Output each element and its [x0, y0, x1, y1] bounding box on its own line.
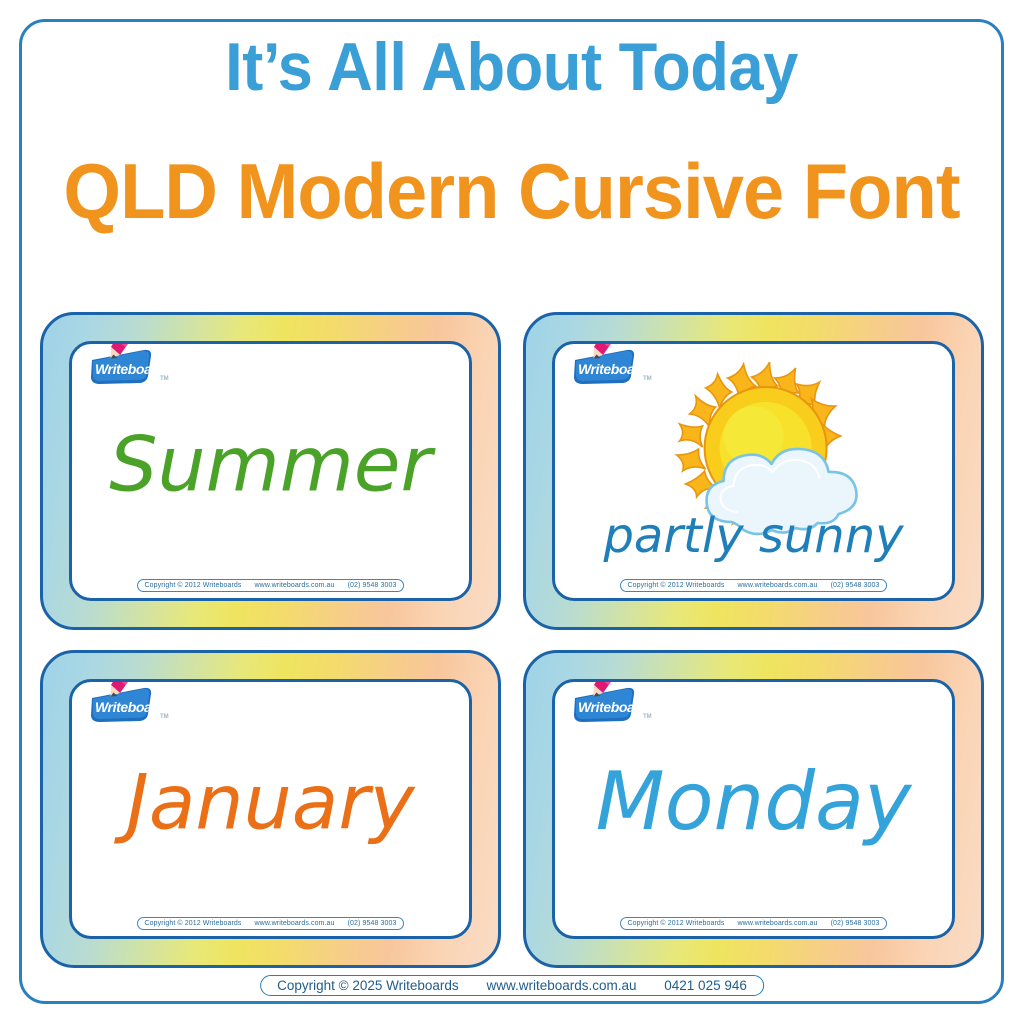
flashcard-summer[interactable]: Writeboards TM Summer	[40, 312, 501, 630]
flashcard-page: It’s All About Today QLD Modern Cursive …	[0, 0, 1024, 1024]
card-copyright-strip: Copyright © 2012 Writeboards www.writebo…	[137, 579, 405, 592]
flashcard-day[interactable]: Writeboards TM Monday Copyrig	[523, 650, 984, 968]
flashcard-word: partly sunny	[555, 508, 952, 564]
flashcard-word: January	[72, 757, 469, 846]
whiteboard-frame: Writeboards TM Monday Copyrig	[523, 650, 984, 968]
svg-text:Writeboards: Writeboards	[95, 361, 173, 377]
flashcard-weather[interactable]: Writeboards TM	[523, 312, 984, 630]
writeboards-logo-icon: Writeboards TM	[86, 341, 182, 392]
card-copyright-website: www.writeboards.com.au	[255, 582, 335, 589]
footer-website: www.writeboards.com.au	[486, 978, 636, 993]
footer-copyright-notice: Copyright © 2025 Writeboards	[277, 978, 459, 993]
card-copyright-strip: Copyright © 2012 Writeboards www.writebo…	[137, 917, 405, 930]
flashcard-word: Monday	[555, 755, 952, 848]
svg-text:TM: TM	[160, 714, 169, 720]
card-copyright-notice: Copyright © 2012 Writeboards	[145, 920, 242, 927]
card-copyright-phone: (02) 9548 3003	[831, 582, 880, 589]
flashcard-grid: Writeboards TM Summer	[40, 312, 984, 952]
card-copyright-notice: Copyright © 2012 Writeboards	[145, 582, 242, 589]
page-title-primary: It’s All About Today	[53, 28, 969, 106]
page-copyright-strip: Copyright © 2025 Writeboards www.writebo…	[260, 975, 764, 996]
card-copyright-notice: Copyright © 2012 Writeboards	[628, 920, 725, 927]
card-copyright-strip: Copyright © 2012 Writeboards www.writebo…	[620, 917, 888, 930]
card-copyright-phone: (02) 9548 3003	[831, 920, 880, 927]
whiteboard-surface: Writeboards TM January Copyri	[69, 679, 472, 939]
card-copyright-phone: (02) 9548 3003	[348, 582, 397, 589]
svg-text:Writeboards: Writeboards	[95, 699, 173, 715]
whiteboard-frame: Writeboards TM January Copyri	[40, 650, 501, 968]
footer-phone: 0421 025 946	[664, 978, 747, 993]
card-copyright-strip: Copyright © 2012 Writeboards www.writebo…	[620, 579, 888, 592]
writeboards-logo-icon: Writeboards TM	[569, 679, 665, 730]
card-copyright-phone: (02) 9548 3003	[348, 920, 397, 927]
card-copyright-website: www.writeboards.com.au	[255, 920, 335, 927]
flashcard-word: Summer	[72, 419, 469, 508]
flashcard-month[interactable]: Writeboards TM January Copyri	[40, 650, 501, 968]
whiteboard-surface: Writeboards TM Summer	[69, 341, 472, 601]
writeboards-logo-icon: Writeboards TM	[86, 679, 182, 730]
svg-text:TM: TM	[160, 376, 169, 382]
card-copyright-website: www.writeboards.com.au	[738, 582, 818, 589]
whiteboard-surface: Writeboards TM Monday Copyrig	[552, 679, 955, 939]
whiteboard-frame: Writeboards TM	[523, 312, 984, 630]
card-copyright-notice: Copyright © 2012 Writeboards	[628, 582, 725, 589]
heading-block: It’s All About Today QLD Modern Cursive …	[19, 28, 1004, 234]
svg-text:Writeboards: Writeboards	[578, 699, 656, 715]
whiteboard-frame: Writeboards TM Summer	[40, 312, 501, 630]
whiteboard-surface: Writeboards TM	[552, 341, 955, 601]
page-title-secondary: QLD Modern Cursive Font	[44, 148, 980, 234]
card-copyright-website: www.writeboards.com.au	[738, 920, 818, 927]
svg-text:TM: TM	[643, 714, 652, 720]
